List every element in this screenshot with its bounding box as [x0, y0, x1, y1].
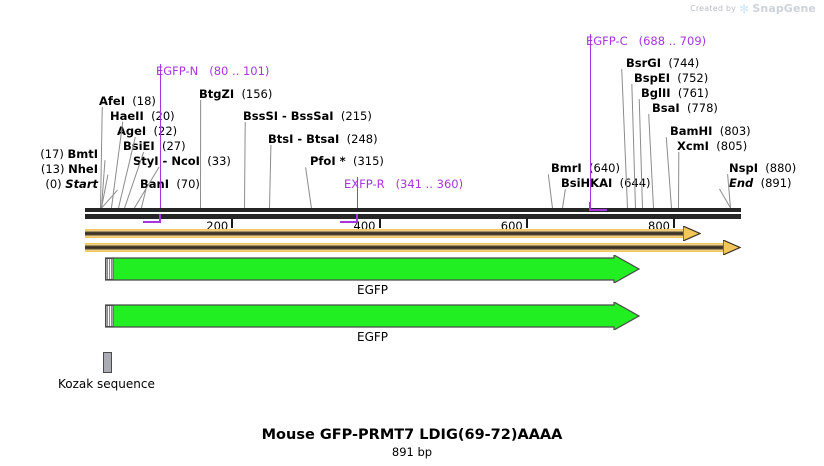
watermark-brand: SnapGene — [752, 2, 816, 15]
site-label-btsi-btsai[interactable]: BtsI - BtsaI (248) — [268, 133, 378, 146]
site-label-start[interactable]: (0) Start — [0, 178, 98, 191]
orf-arrow-2[interactable] — [85, 243, 740, 252]
leader-line-803 — [666, 137, 672, 208]
primer-bracket-egfp-n[interactable] — [143, 214, 161, 224]
site-label-haeii[interactable]: HaeII (20) — [110, 110, 175, 123]
ruler-tick-200 — [231, 219, 233, 228]
site-label-pfoi[interactable]: PfoI * (315) — [310, 155, 384, 168]
primer-bracket-egfp-c[interactable] — [589, 202, 607, 212]
site-label-bmti[interactable]: (17) BmtI — [0, 148, 98, 161]
primer-line-exfp-r — [357, 177, 358, 211]
site-label-nspi[interactable]: NspI (880) — [729, 162, 796, 175]
leader-line-640 — [548, 174, 553, 208]
site-label-bsai[interactable]: BsaI (778) — [652, 102, 718, 115]
feature-label-kozak-sequence: Kozak sequence — [58, 377, 155, 391]
site-label-afei[interactable]: AfeI (18) — [99, 95, 156, 108]
map-title: Mouse GFP-PRMT7 LDIG(69-72)AAAA — [0, 427, 824, 443]
site-label-bsrgi[interactable]: BsrGI (744) — [626, 57, 699, 70]
primer-bracket-exfp-r[interactable] — [340, 214, 358, 224]
site-label-end[interactable]: End (891) — [729, 177, 792, 190]
site-label-agei[interactable]: AgeI (22) — [117, 125, 177, 138]
snapgene-leaf-icon: ✻ — [739, 3, 749, 15]
site-label-bmri[interactable]: BmrI (640) — [551, 162, 620, 175]
leader-line-778 — [648, 114, 654, 208]
site-label-bsihkai[interactable]: BsiHKAI (644) — [561, 177, 651, 190]
leader-line-248 — [269, 145, 271, 208]
primer-label-exfp-r[interactable]: EXFP-R (341 .. 360) — [344, 178, 463, 191]
site-label-nhei[interactable]: (13) NheI — [0, 163, 98, 176]
site-label-styi-ncoi[interactable]: StyI - NcoI (33) — [133, 155, 231, 168]
primer-label-egfp-c[interactable]: EGFP-C (688 .. 709) — [586, 35, 706, 48]
ruler-tick-600 — [526, 219, 528, 228]
leader-line-761 — [639, 99, 643, 208]
primer-line-egfp-c — [590, 34, 591, 211]
site-label-bglii[interactable]: BglII (761) — [641, 87, 709, 100]
orf-arrow-1[interactable] — [85, 229, 700, 238]
leader-line-156 — [200, 100, 201, 208]
primer-label-egfp-n[interactable]: EGFP-N (80 .. 101) — [156, 65, 269, 78]
leader-line-644 — [562, 189, 566, 208]
leader-line-805 — [678, 152, 679, 208]
site-label-bsssi-bssaai[interactable]: BssSI - BssSaI (215) — [243, 110, 372, 123]
map-length: 891 bp — [0, 445, 824, 459]
ruler-tick-400 — [379, 219, 381, 228]
feature-egfp-2[interactable] — [105, 305, 640, 327]
primer-line-egfp-n — [160, 64, 161, 211]
sequence-backbone-top-strand[interactable] — [85, 208, 741, 212]
snapgene-watermark: Created by ✻ SnapGene — [690, 2, 816, 15]
feature-kozak-sequence[interactable] — [103, 352, 112, 373]
site-label-btgzi[interactable]: BtgZI (156) — [199, 88, 272, 101]
ruler-tick-800 — [673, 219, 675, 228]
feature-egfp-1[interactable] — [105, 258, 640, 280]
site-label-bamhi[interactable]: BamHI (803) — [670, 125, 751, 138]
feature-label-egfp-1: EGFP — [265, 283, 480, 297]
site-label-xcmi[interactable]: XcmI (805) — [677, 140, 747, 153]
site-label-bspei[interactable]: BspEI (752) — [634, 72, 708, 85]
leader-line-215 — [244, 122, 246, 208]
watermark-created-by: Created by — [690, 4, 736, 13]
leader-line-315 — [305, 167, 312, 208]
plasmid-map-canvas: Created by ✻ SnapGene (17) BmtI (13) Nhe… — [0, 0, 824, 466]
feature-label-egfp-2: EGFP — [265, 330, 480, 344]
